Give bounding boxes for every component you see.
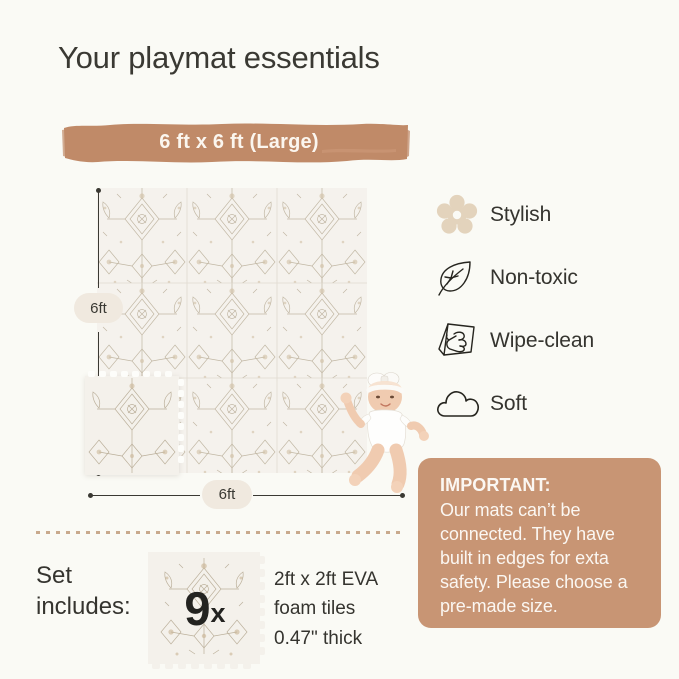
important-heading: IMPORTANT:: [440, 474, 643, 498]
set-includes-tile: 9x: [148, 552, 260, 664]
page-title: Your playmat essentials: [58, 40, 380, 76]
feature-item-soft: Soft: [432, 372, 662, 435]
set-includes-label-line2: includes:: [36, 591, 131, 622]
width-dimension-dot-right: [400, 493, 405, 498]
set-desc-line1: 2ft x 2ft EVA: [274, 565, 378, 594]
leaf-icon: [432, 254, 490, 302]
set-tile-count-suffix: x: [211, 598, 225, 629]
cloud-icon: [432, 380, 490, 428]
feature-item-non-toxic: Non-toxic: [432, 246, 662, 309]
section-divider: [36, 531, 401, 534]
set-tile-count: 9x: [148, 552, 260, 664]
set-desc-line2: foam tiles: [274, 594, 378, 623]
feature-item-wipe-clean: Wipe-clean: [432, 309, 662, 372]
feature-label-soft: Soft: [490, 392, 527, 416]
set-tile-count-number: 9: [184, 581, 209, 636]
set-includes-label: Set includes:: [36, 560, 131, 622]
height-dimension-line-top: [98, 190, 99, 288]
important-body: Our mats can’t be connected. They have b…: [440, 499, 643, 619]
set-includes-label-line1: Set: [36, 560, 131, 591]
detached-foam-tile: [85, 376, 179, 475]
width-dimension-dot-left: [88, 493, 93, 498]
width-dimension-line-left: [90, 495, 200, 496]
set-desc-line3: 0.47" thick: [274, 624, 378, 653]
mat-diagram: 6ft 6ft: [40, 180, 410, 510]
height-dimension-dot-top: [96, 188, 101, 193]
feature-label-non-toxic: Non-toxic: [490, 266, 578, 290]
important-notice: IMPORTANT: Our mats can’t be connected. …: [418, 458, 661, 628]
size-banner: 6 ft x 6 ft (Large): [62, 120, 410, 164]
feature-label-stylish: Stylish: [490, 203, 551, 227]
detached-tile-pattern: [85, 376, 179, 475]
feature-item-stylish: Stylish: [432, 183, 662, 246]
flower-icon: [432, 191, 490, 239]
feature-label-wipe-clean: Wipe-clean: [490, 329, 594, 353]
height-dimension-label: 6ft: [74, 293, 123, 323]
width-dimension-line-right: [253, 495, 402, 496]
size-banner-label: 6 ft x 6 ft (Large): [62, 120, 410, 164]
tile-nubs-right: [178, 376, 184, 475]
wipe-cloth-icon: [432, 317, 490, 365]
tile-nubs-top: [85, 371, 179, 377]
feature-list: Stylish Non-toxic: [432, 183, 662, 435]
set-includes-description: 2ft x 2ft EVA foam tiles 0.47" thick: [274, 565, 378, 653]
playmat-infographic: Your playmat essentials 6 ft x 6 ft (Lar…: [0, 0, 679, 679]
width-dimension-label: 6ft: [202, 480, 252, 509]
